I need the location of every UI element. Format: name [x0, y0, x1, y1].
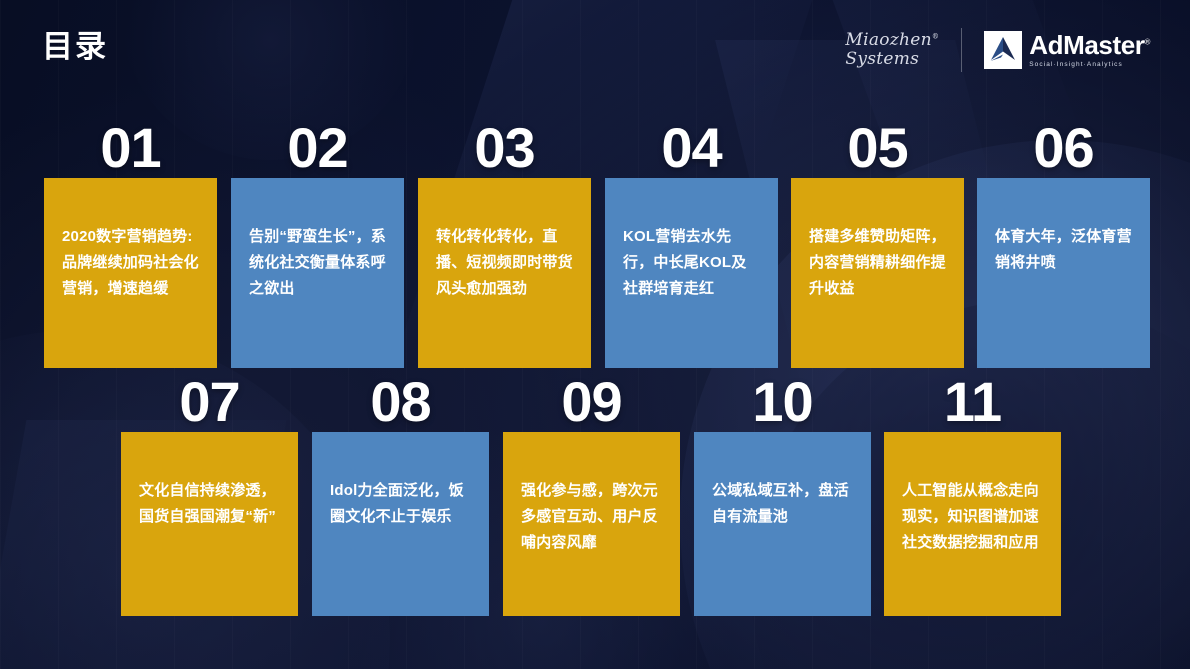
- toc-card-body: 2020数字营销趋势: 品牌继续加码社会化营销，增速趋缓: [44, 178, 217, 368]
- toc-card-text: 搭建多维赞助矩阵，内容营销精耕细作提升收益: [809, 224, 946, 301]
- toc-card-text: Idol力全面泛化，饭圈文化不止于娱乐: [330, 478, 471, 530]
- toc-card-06[interactable]: 体育大年，泛体育营销将井喷06: [977, 178, 1150, 368]
- toc-card-number: 05: [791, 120, 964, 176]
- toc-card-11[interactable]: 人工智能从概念走向现实，知识图谱加速社交数据挖掘和应用11: [884, 432, 1061, 616]
- toc-card-text: 2020数字营销趋势: 品牌继续加码社会化营销，增速趋缓: [62, 224, 199, 301]
- toc-card-02[interactable]: 告别“野蛮生长”，系统化社交衡量体系呼之欲出02: [231, 178, 404, 368]
- toc-card-text: 体育大年，泛体育营销将井喷: [995, 224, 1132, 276]
- admaster-mark-icon: [984, 31, 1022, 69]
- admaster-name: AdMaster®: [1029, 32, 1150, 58]
- toc-card-number: 04: [605, 120, 778, 176]
- toc-card-05[interactable]: 搭建多维赞助矩阵，内容营销精耕细作提升收益05: [791, 178, 964, 368]
- toc-card-text: 公域私域互补，盘活自有流量池: [712, 478, 853, 530]
- toc-card-text: 转化转化转化，直播、短视频即时带货风头愈加强劲: [436, 224, 573, 301]
- toc-card-number: 06: [977, 120, 1150, 176]
- registered-mark-icon: ®: [1145, 37, 1151, 46]
- toc-card-number: 11: [884, 374, 1061, 430]
- toc-card-number: 02: [231, 120, 404, 176]
- toc-card-09[interactable]: 强化参与感，跨次元多感官互动、用户反哺内容风靡09: [503, 432, 680, 616]
- toc-card-number: 07: [121, 374, 298, 430]
- toc-card-number: 08: [312, 374, 489, 430]
- toc-card-text: 文化自信持续渗透，国货自强国潮复“新”: [139, 478, 280, 530]
- toc-card-text: KOL营销去水先行，中长尾KOL及社群培育走红: [623, 224, 760, 301]
- toc-card-body: 转化转化转化，直播、短视频即时带货风头愈加强劲: [418, 178, 591, 368]
- toc-card-body: KOL营销去水先行，中长尾KOL及社群培育走红: [605, 178, 778, 368]
- toc-card-03[interactable]: 转化转化转化，直播、短视频即时带货风头愈加强劲03: [418, 178, 591, 368]
- toc-card-number: 03: [418, 120, 591, 176]
- toc-card-10[interactable]: 公域私域互补，盘活自有流量池10: [694, 432, 871, 616]
- toc-card-body: 告别“野蛮生长”，系统化社交衡量体系呼之欲出: [231, 178, 404, 368]
- toc-card-body: 搭建多维赞助矩阵，内容营销精耕细作提升收益: [791, 178, 964, 368]
- miaozhen-logo: Miaozhen® Systems: [845, 32, 939, 68]
- toc-card-body: 强化参与感，跨次元多感官互动、用户反哺内容风靡: [503, 432, 680, 616]
- admaster-logo: AdMaster® Social·Insight·Analytics: [984, 31, 1150, 69]
- slide-canvas: 目录 Miaozhen® Systems AdM: [0, 0, 1190, 669]
- toc-card-08[interactable]: Idol力全面泛化，饭圈文化不止于娱乐08: [312, 432, 489, 616]
- logo-group: Miaozhen® Systems AdMaster® Social·: [845, 24, 1150, 76]
- miaozhen-logo-line1: Miaozhen®: [845, 32, 939, 49]
- page-title: 目录: [42, 31, 108, 62]
- toc-card-text: 强化参与感，跨次元多感官互动、用户反哺内容风靡: [521, 478, 662, 555]
- registered-mark-icon: ®: [932, 32, 939, 40]
- toc-card-number: 01: [44, 120, 217, 176]
- toc-card-body: 体育大年，泛体育营销将井喷: [977, 178, 1150, 368]
- toc-card-04[interactable]: KOL营销去水先行，中长尾KOL及社群培育走红04: [605, 178, 778, 368]
- toc-card-01[interactable]: 2020数字营销趋势: 品牌继续加码社会化营销，增速趋缓01: [44, 178, 217, 368]
- toc-card-number: 10: [694, 374, 871, 430]
- toc-card-text: 人工智能从概念走向现实，知识图谱加速社交数据挖掘和应用: [902, 478, 1043, 555]
- toc-card-07[interactable]: 文化自信持续渗透，国货自强国潮复“新”07: [121, 432, 298, 616]
- admaster-wordmark: AdMaster® Social·Insight·Analytics: [1029, 32, 1150, 68]
- toc-card-body: 文化自信持续渗透，国货自强国潮复“新”: [121, 432, 298, 616]
- logo-divider: [961, 28, 962, 72]
- toc-card-number: 09: [503, 374, 680, 430]
- toc-card-body: 公域私域互补，盘活自有流量池: [694, 432, 871, 616]
- toc-card-body: 人工智能从概念走向现实，知识图谱加速社交数据挖掘和应用: [884, 432, 1061, 616]
- admaster-tagline: Social·Insight·Analytics: [1029, 61, 1150, 68]
- miaozhen-logo-line2: Systems: [845, 51, 919, 68]
- toc-card-text: 告别“野蛮生长”，系统化社交衡量体系呼之欲出: [249, 224, 386, 301]
- slide-header: 目录 Miaozhen® Systems AdM: [0, 0, 1190, 100]
- toc-card-body: Idol力全面泛化，饭圈文化不止于娱乐: [312, 432, 489, 616]
